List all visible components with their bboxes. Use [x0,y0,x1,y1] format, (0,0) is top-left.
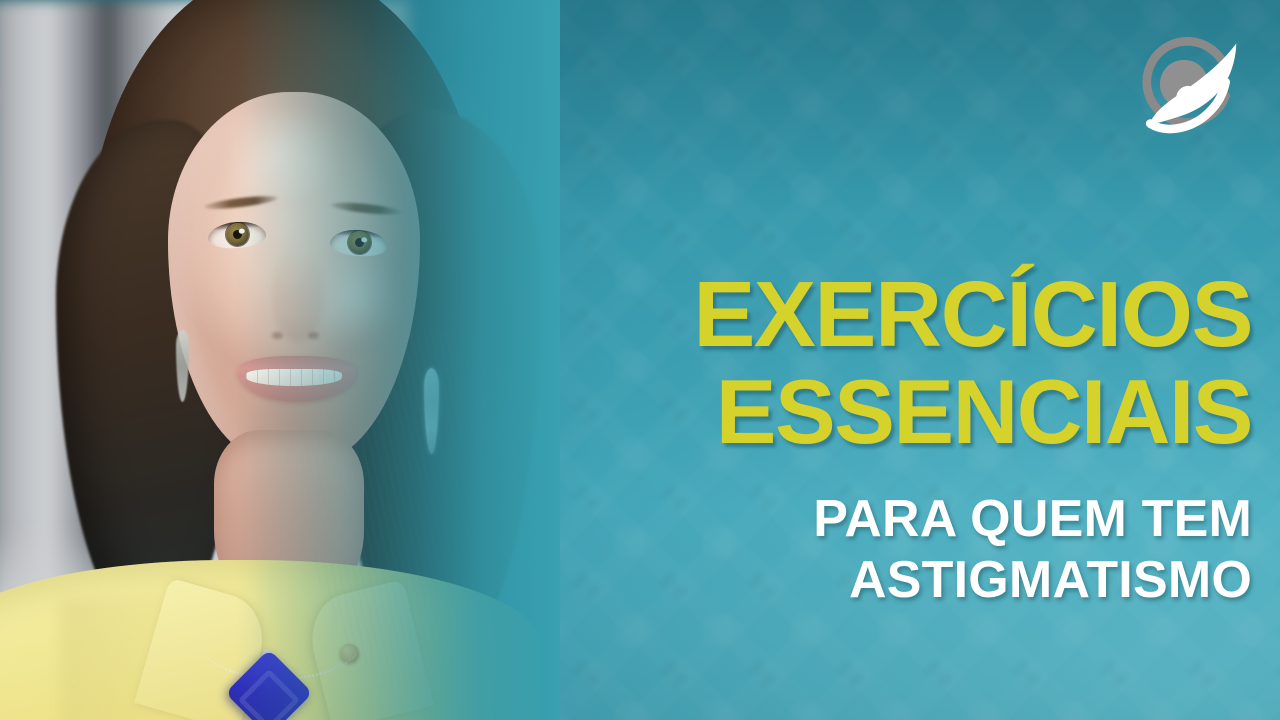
headline-line-1: EXERCÍCIOS [512,268,1252,360]
photo-fade-edge [0,0,560,720]
subject-photo [0,0,560,720]
headline-line-2: ESSENCIAIS [512,368,1252,458]
title-block: EXERCÍCIOS ESSENCIAIS PARA QUEM TEM ASTI… [512,268,1252,608]
logo-pupil [1176,86,1199,109]
video-thumbnail: EXERCÍCIOS ESSENCIAIS PARA QUEM TEM ASTI… [0,0,1280,720]
eye-logo [1128,26,1244,142]
subhead-line-1: PARA QUEM TEM [512,492,1252,547]
subhead-line-2: ASTIGMATISMO [512,553,1252,608]
